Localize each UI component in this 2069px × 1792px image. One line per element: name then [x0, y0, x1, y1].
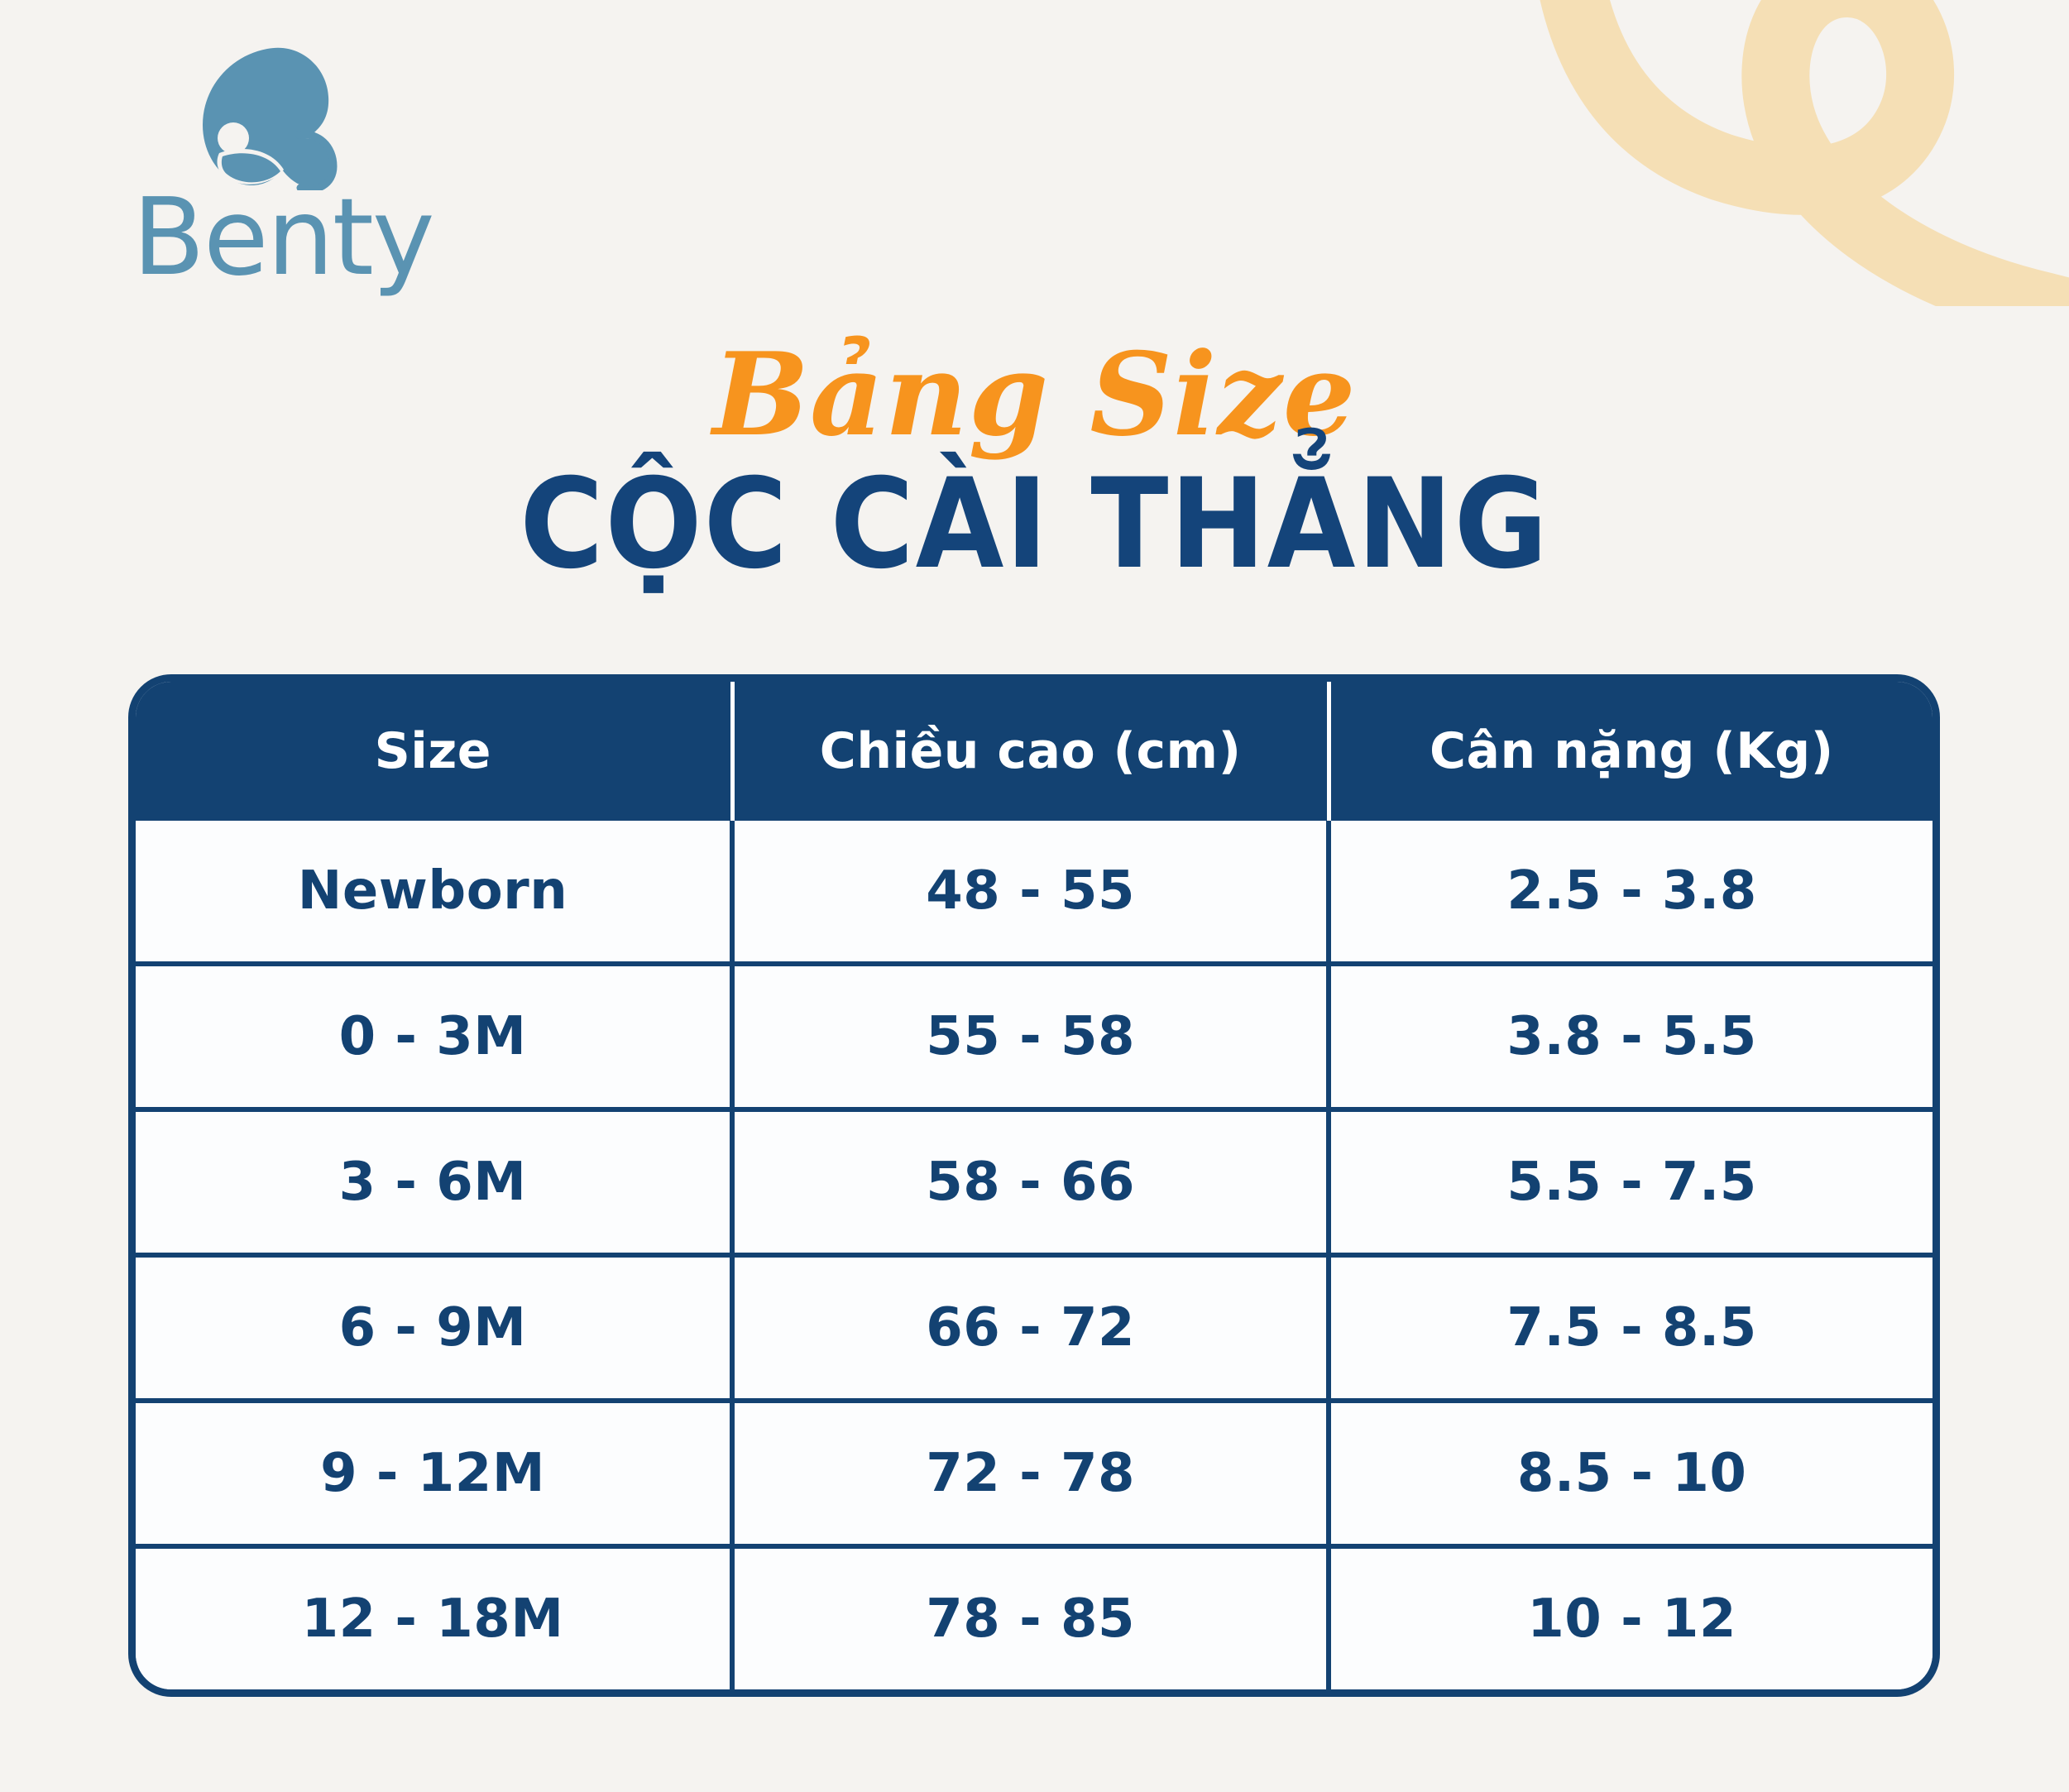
cell-weight: 5.5 - 7.5: [1329, 1109, 1933, 1255]
table-row: 3 - 6M 58 - 66 5.5 - 7.5: [136, 1109, 1933, 1255]
table-row: 0 - 3M 55 - 58 3.8 - 5.5: [136, 964, 1933, 1109]
cell-height: 58 - 66: [732, 1109, 1329, 1255]
table-row: 6 - 9M 66 - 72 7.5 - 8.5: [136, 1255, 1933, 1401]
cell-size: 6 - 9M: [136, 1255, 732, 1401]
script-title: Bảng Size: [0, 338, 2069, 452]
size-chart-table: Size Chiều cao (cm) Cân nặng (Kg) Newbor…: [136, 682, 1933, 1689]
cell-height: 78 - 85: [732, 1546, 1329, 1689]
cell-height: 55 - 58: [732, 964, 1329, 1109]
column-header-size: Size: [136, 682, 732, 821]
cell-weight: 3.8 - 5.5: [1329, 964, 1933, 1109]
cell-size: 12 - 18M: [136, 1546, 732, 1689]
brand-logo: Benty: [124, 46, 472, 291]
mother-and-baby-icon: [194, 46, 343, 190]
size-chart-container: Size Chiều cao (cm) Cân nặng (Kg) Newbor…: [128, 674, 1940, 1697]
table-header-row: Size Chiều cao (cm) Cân nặng (Kg): [136, 682, 1933, 821]
ribbon-swirl-decoration-icon: [1473, 0, 2069, 306]
cell-weight: 10 - 12: [1329, 1546, 1933, 1689]
cell-size: 9 - 12M: [136, 1401, 732, 1546]
column-header-height: Chiều cao (cm): [732, 682, 1329, 821]
cell-size: 3 - 6M: [136, 1109, 732, 1255]
brand-wordmark: Benty: [132, 185, 472, 291]
cell-size: Newborn: [136, 821, 732, 964]
table-row: 12 - 18M 78 - 85 10 - 12: [136, 1546, 1933, 1689]
column-header-weight: Cân nặng (Kg): [1329, 682, 1933, 821]
page-title: CỘC CÀI THẲNG: [83, 460, 1986, 591]
cell-height: 72 - 78: [732, 1401, 1329, 1546]
cell-height: 66 - 72: [732, 1255, 1329, 1401]
title-block: Bảng Size CỘC CÀI THẲNG: [0, 338, 2069, 591]
table-row: Newborn 48 - 55 2.5 - 3.8: [136, 821, 1933, 964]
cell-height: 48 - 55: [732, 821, 1329, 964]
cell-size: 0 - 3M: [136, 964, 732, 1109]
table-row: 9 - 12M 72 - 78 8.5 - 10: [136, 1401, 1933, 1546]
cell-weight: 7.5 - 8.5: [1329, 1255, 1933, 1401]
cell-weight: 2.5 - 3.8: [1329, 821, 1933, 964]
table-header: Size Chiều cao (cm) Cân nặng (Kg): [136, 682, 1933, 821]
table-body: Newborn 48 - 55 2.5 - 3.8 0 - 3M 55 - 58…: [136, 821, 1933, 1689]
cell-weight: 8.5 - 10: [1329, 1401, 1933, 1546]
